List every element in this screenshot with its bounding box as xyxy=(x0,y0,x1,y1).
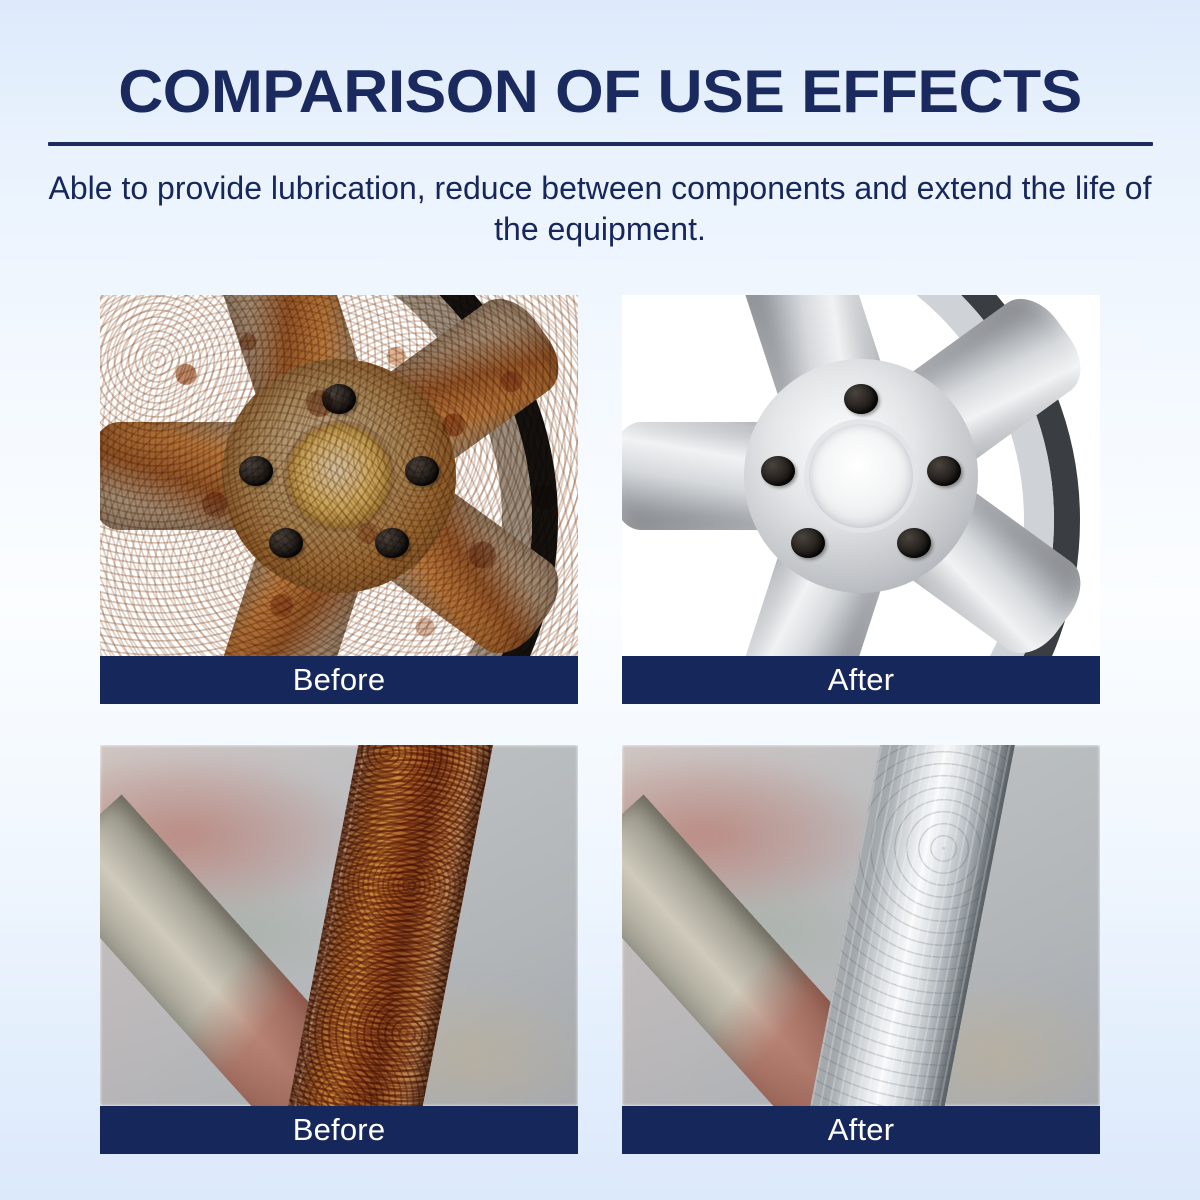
wheel-lug-nut xyxy=(791,528,825,558)
rust-grain-overlay xyxy=(100,295,578,656)
wheel-lug-nut xyxy=(761,456,795,486)
rusty-wheel-illustration xyxy=(100,295,578,656)
comparison-grid: Before xyxy=(100,295,1100,1154)
caption-bar-before: Before xyxy=(100,656,578,704)
comparison-cell-pipe-before: Before xyxy=(100,745,578,1154)
photo-clean-metal-pipe xyxy=(622,745,1100,1106)
wheel-lug-nut xyxy=(927,456,961,486)
comparison-row-pipe: Before After xyxy=(100,745,1100,1154)
caption-label: Before xyxy=(293,662,386,698)
caption-label: After xyxy=(828,662,894,698)
clean-wheel-illustration xyxy=(622,295,1100,656)
caption-label: After xyxy=(828,1112,894,1148)
pipe-highlight-edge xyxy=(861,745,956,1106)
comparison-cell-wheel-before: Before xyxy=(100,295,578,704)
photo-rusty-metal-pipe xyxy=(100,745,578,1106)
clean-pipe-illustration xyxy=(622,745,1100,1106)
caption-bar-after: After xyxy=(622,656,1100,704)
caption-bar-before: Before xyxy=(100,1106,578,1154)
comparison-row-wheel: Before xyxy=(100,295,1100,704)
caption-bar-after: After xyxy=(622,1106,1100,1154)
page-title: COMPARISON OF USE EFFECTS xyxy=(11,62,1188,122)
wheel-lug-nut xyxy=(844,384,878,414)
caption-label: Before xyxy=(293,1112,386,1148)
title-divider xyxy=(48,142,1153,146)
photo-rusty-alloy-wheel xyxy=(100,295,578,656)
rusty-pipe-illustration xyxy=(100,745,578,1106)
wheel-center-cap xyxy=(809,424,913,528)
comparison-cell-wheel-after: After xyxy=(622,295,1100,704)
comparison-cell-pipe-after: After xyxy=(622,745,1100,1154)
wheel-lug-nut xyxy=(897,528,931,558)
header: COMPARISON OF USE EFFECTS Able to provid… xyxy=(0,0,1200,250)
subtitle: Able to provide lubrication, reduce betw… xyxy=(45,168,1155,250)
photo-clean-alloy-wheel xyxy=(622,295,1100,656)
